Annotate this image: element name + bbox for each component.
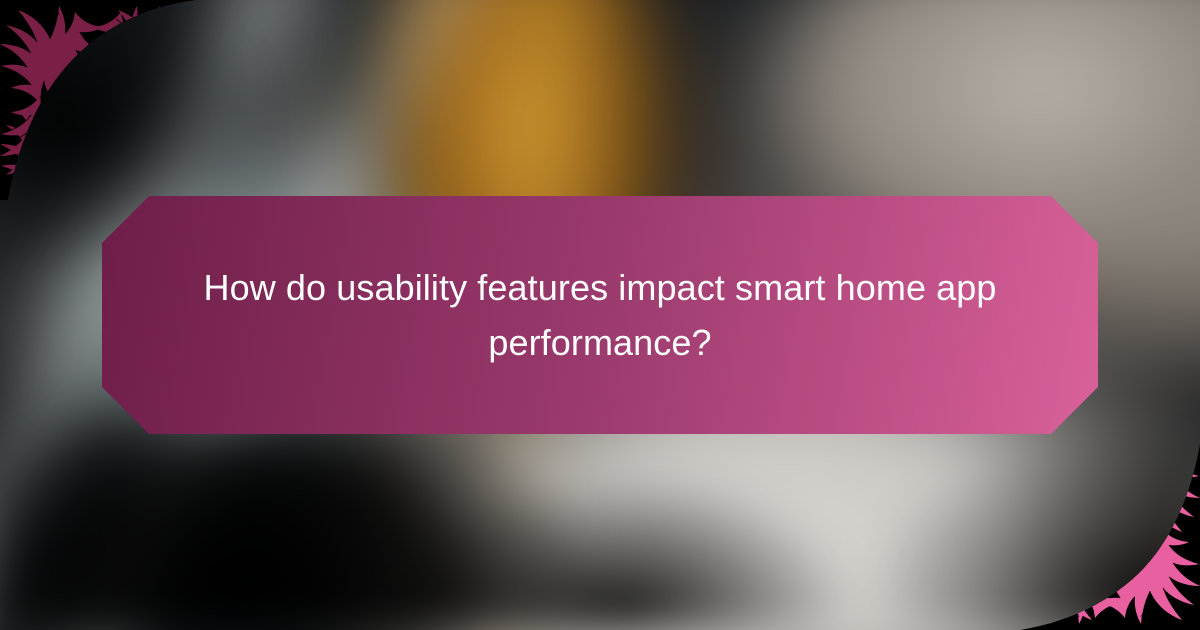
- page-title: How do usability features impact smart h…: [190, 260, 1010, 370]
- damask-floral-corner-icon: [0, 0, 196, 200]
- question-banner: How do usability features impact smart h…: [102, 196, 1098, 434]
- damask-floral-corner-icon: [1020, 444, 1200, 630]
- question-card: How do usability features impact smart h…: [0, 0, 1200, 630]
